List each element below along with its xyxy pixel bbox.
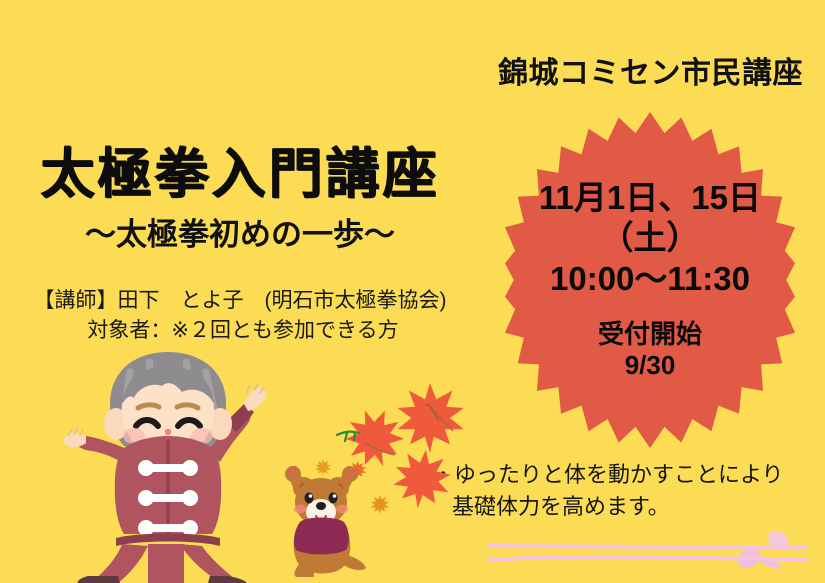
elderly-woman-taichi-illustration	[58, 352, 293, 583]
badge-date: 11月1日、15日	[539, 179, 761, 218]
pink-leaf-divider-icon	[470, 528, 820, 576]
badge-registration-label: 受付開始	[598, 319, 702, 350]
organization-header: 錦城コミセン市民講座	[498, 48, 803, 92]
badge-time: 10:00〜11:30	[550, 259, 750, 299]
brown-bear-cheering-illustration	[262, 452, 382, 577]
badge-registration-date: 9/30	[625, 350, 676, 381]
badge-weekday: （土）	[601, 218, 700, 258]
audience-line: 対象者：※２回とも参加できる方	[0, 316, 480, 346]
badge-text-group: 11月1日、15日 （土） 10:00〜11:30 受付開始 9/30	[505, 112, 795, 448]
instructor-line: 【講師】田下 とよ子 (明石市太極拳協会)	[0, 286, 480, 316]
course-info-block: 【講師】田下 とよ子 (明石市太極拳協会) 対象者：※２回とも参加できる方	[0, 286, 480, 347]
poster-canvas: 錦城コミセン市民講座 太極拳入門講座 〜太極拳初めの一歩〜 【講師】田下 とよ子…	[0, 0, 825, 583]
page-title: 太極拳入門講座	[0, 146, 480, 201]
title-block: 太極拳入門講座 〜太極拳初めの一歩〜	[0, 146, 480, 254]
schedule-badge: 11月1日、15日 （土） 10:00〜11:30 受付開始 9/30	[505, 112, 795, 448]
page-subtitle: 〜太極拳初めの一歩〜	[0, 209, 480, 254]
